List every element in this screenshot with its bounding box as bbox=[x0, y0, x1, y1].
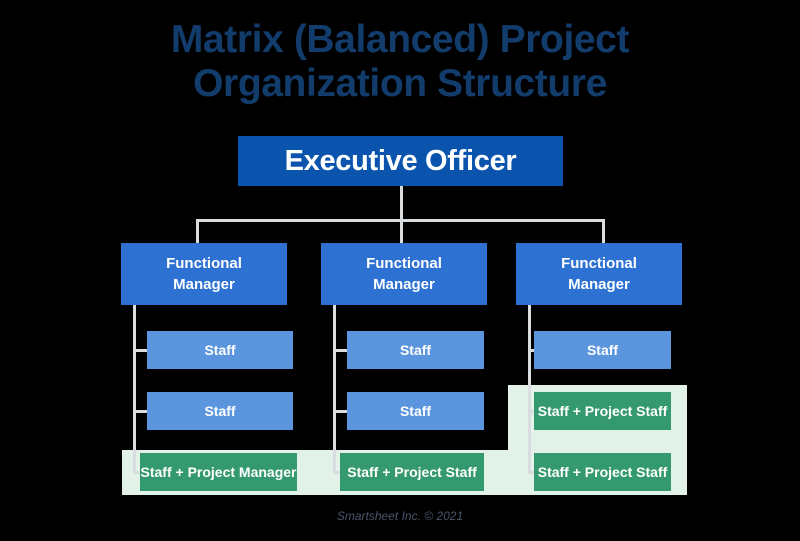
node-col2-project-staff-label: Staff + Project Staff bbox=[347, 464, 477, 480]
connector-col1-spine bbox=[133, 304, 136, 474]
node-col3-project-staff-1[interactable]: Staff + Project Staff bbox=[534, 392, 671, 430]
page-title: Matrix (Balanced) Project Organization S… bbox=[0, 18, 800, 106]
connector-col3-spine bbox=[528, 304, 531, 474]
footer-credit: Smartsheet Inc. © 2021 bbox=[0, 509, 800, 523]
node-col2-staff-2[interactable]: Staff bbox=[347, 392, 484, 430]
node-functional-manager-1-label-line-2: Manager bbox=[166, 274, 242, 295]
node-functional-manager-2-label-line-2: Manager bbox=[366, 274, 442, 295]
node-functional-manager-3[interactable]: Functional Manager bbox=[516, 243, 682, 305]
node-col1-staff-1[interactable]: Staff bbox=[147, 331, 293, 369]
node-functional-manager-3-label-line-1: Functional bbox=[561, 253, 637, 274]
connector-col1-stub-2 bbox=[133, 410, 147, 413]
node-col2-staff-2-label: Staff bbox=[400, 403, 431, 419]
node-functional-manager-1-label-line-1: Functional bbox=[166, 253, 242, 274]
node-functional-manager-1[interactable]: Functional Manager bbox=[121, 243, 287, 305]
connector-col2-stub-1 bbox=[333, 349, 347, 352]
page-title-line-1: Matrix (Balanced) Project bbox=[0, 18, 800, 62]
connector-exec-drop-2 bbox=[400, 219, 403, 245]
node-col1-staff-2[interactable]: Staff bbox=[147, 392, 293, 430]
node-executive-officer[interactable]: Executive Officer bbox=[238, 136, 563, 186]
node-col1-project-manager[interactable]: Staff + Project Manager bbox=[140, 453, 297, 491]
node-functional-manager-2[interactable]: Functional Manager bbox=[321, 243, 487, 305]
connector-exec-drop-3 bbox=[602, 219, 605, 245]
node-functional-manager-3-label-line-2: Manager bbox=[561, 274, 637, 295]
node-col3-project-staff-1-label: Staff + Project Staff bbox=[538, 403, 668, 419]
node-col1-project-manager-label: Staff + Project Manager bbox=[141, 464, 297, 480]
connector-col2-stub-2 bbox=[333, 410, 347, 413]
connector-col1-stub-1 bbox=[133, 349, 147, 352]
node-col2-staff-1[interactable]: Staff bbox=[347, 331, 484, 369]
connector-exec-drop-1 bbox=[196, 219, 199, 245]
node-col1-staff-2-label: Staff bbox=[204, 403, 235, 419]
node-executive-officer-label: Executive Officer bbox=[285, 145, 517, 178]
connector-col2-spine bbox=[333, 304, 336, 474]
node-functional-manager-2-label-line-1: Functional bbox=[366, 253, 442, 274]
org-chart-canvas: Matrix (Balanced) Project Organization S… bbox=[0, 0, 800, 541]
node-col3-staff-1-label: Staff bbox=[587, 342, 618, 358]
node-col1-staff-1-label: Staff bbox=[204, 342, 235, 358]
connector-exec-stem bbox=[400, 185, 403, 221]
node-col3-project-staff-2[interactable]: Staff + Project Staff bbox=[534, 453, 671, 491]
node-col3-staff-1[interactable]: Staff bbox=[534, 331, 671, 369]
node-col3-project-staff-2-label: Staff + Project Staff bbox=[538, 464, 668, 480]
node-col2-project-staff[interactable]: Staff + Project Staff bbox=[340, 453, 484, 491]
page-title-line-2: Organization Structure bbox=[0, 62, 800, 106]
node-col2-staff-1-label: Staff bbox=[400, 342, 431, 358]
